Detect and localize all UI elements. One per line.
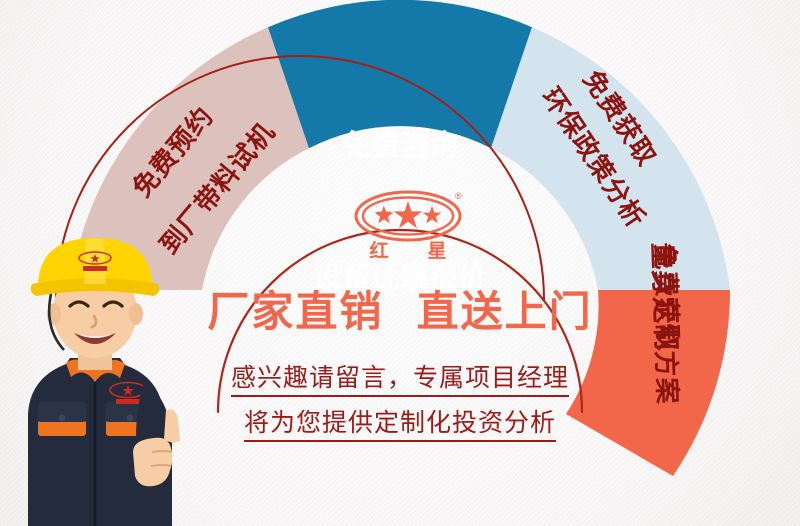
hongxing-logo: ® 红 星 [352,188,464,262]
subtitle-line-1-text: 感兴趣请留言，专属项目经理 [231,363,569,397]
logo-char-left: 红 [369,239,388,262]
smiling-worker-thumbs-up [0,232,204,526]
logo-stars [375,201,442,228]
worker-pocket-left [38,420,86,436]
promo-banner: 免费咨询 设备优惠报价 免费预约 到厂带料试机 免费获取 环保政策分析 免费获取… [0,0,800,526]
worker-helmet-ridge [84,239,106,285]
logo-registered-mark: ® [455,191,462,201]
worker-pocket-button-right [127,415,134,422]
worker-pocket-button-left [59,415,66,422]
subtitle-line-2-text: 将为您提供定制化投资分析 [244,408,556,442]
segment-free-consultation-shape[interactable] [268,0,532,148]
worker-ear-right [129,303,143,325]
logo-char-right: 星 [427,240,446,262]
